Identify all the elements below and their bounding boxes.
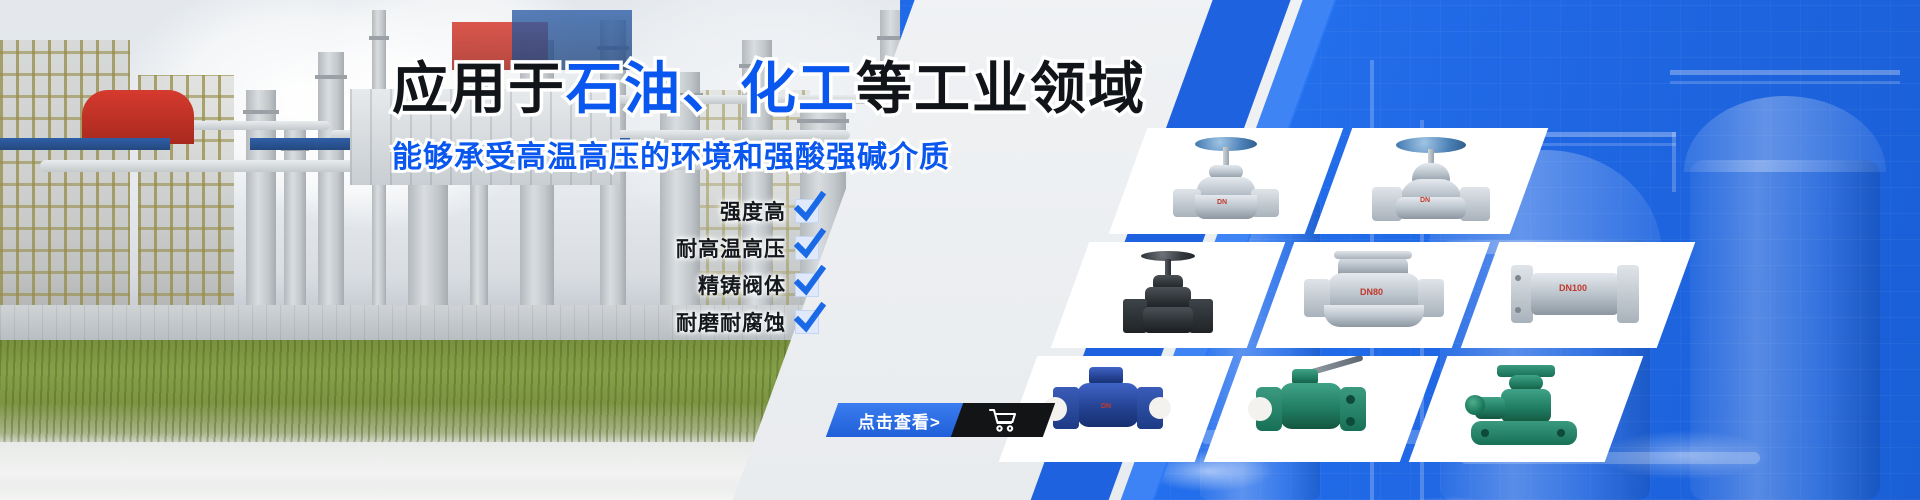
feature-label: 耐磨耐腐蚀 bbox=[676, 307, 786, 337]
headline-segment-accent: 石油、化工 bbox=[566, 57, 856, 120]
globe-valve-flanged-image: DN bbox=[1356, 135, 1506, 227]
feature-checklist: 强度高 耐高温高压 精铸阀体 耐磨耐腐蚀 bbox=[676, 196, 819, 337]
lined-flange-valve-image: DN100 bbox=[1503, 249, 1653, 341]
check-icon bbox=[795, 273, 819, 297]
feature-item: 耐磨耐腐蚀 bbox=[676, 307, 819, 337]
headline-block: 应用于石油、化工等工业领域 能够承受高温高压的环境和强酸强碱介质 bbox=[392, 58, 1112, 176]
feature-item: 精铸阀体 bbox=[698, 270, 819, 300]
product-row: DN bbox=[1018, 356, 1624, 462]
swing-check-valve-image: DN80 bbox=[1298, 249, 1448, 341]
product-cell[interactable] bbox=[1051, 242, 1286, 348]
product-row: DN80 DN100 bbox=[1070, 242, 1676, 348]
feature-item: 耐高温高压 bbox=[676, 233, 819, 263]
cta-button[interactable]: 点击查看> bbox=[832, 403, 1049, 437]
gate-valve-steel-image: DN bbox=[1151, 135, 1301, 227]
headline-segment-3: 等工业领域 bbox=[856, 57, 1146, 120]
product-cell[interactable]: DN100 bbox=[1461, 242, 1696, 348]
forged-gate-valve-dark-image bbox=[1093, 249, 1243, 341]
check-icon bbox=[795, 236, 819, 260]
promo-banner: 应用于石油、化工等工业领域 能够承受高温高压的环境和强酸强碱介质 强度高 耐高温… bbox=[0, 0, 1920, 500]
product-grid: DN DN bbox=[1070, 128, 1750, 466]
feature-item: 强度高 bbox=[720, 196, 819, 226]
feature-label: 耐高温高压 bbox=[676, 233, 786, 263]
ball-valve-green-image bbox=[1246, 363, 1396, 455]
cta-label-wrap[interactable]: 点击查看> bbox=[826, 403, 969, 437]
shopping-cart-icon[interactable] bbox=[951, 403, 1055, 437]
product-cell[interactable] bbox=[1204, 356, 1439, 462]
ball-valve-blue-image: DN bbox=[1041, 363, 1191, 455]
product-cell[interactable]: DN bbox=[1314, 128, 1549, 234]
product-cell[interactable] bbox=[1409, 356, 1644, 462]
headline-segment-1: 应用于 bbox=[392, 57, 566, 120]
cta-label: 点击查看> bbox=[858, 408, 941, 433]
page-title: 应用于石油、化工等工业领域 bbox=[392, 58, 1112, 120]
product-row: DN DN bbox=[1128, 128, 1529, 234]
feature-label: 精铸阀体 bbox=[698, 270, 786, 300]
flange-valve-green-image bbox=[1451, 363, 1601, 455]
product-cell[interactable]: DN bbox=[1109, 128, 1344, 234]
feature-label: 强度高 bbox=[720, 196, 786, 226]
product-cell[interactable]: DN80 bbox=[1256, 242, 1491, 348]
page-subtitle: 能够承受高温高压的环境和强酸强碱介质 bbox=[392, 132, 1112, 176]
check-icon bbox=[795, 199, 819, 223]
check-icon bbox=[795, 310, 819, 334]
